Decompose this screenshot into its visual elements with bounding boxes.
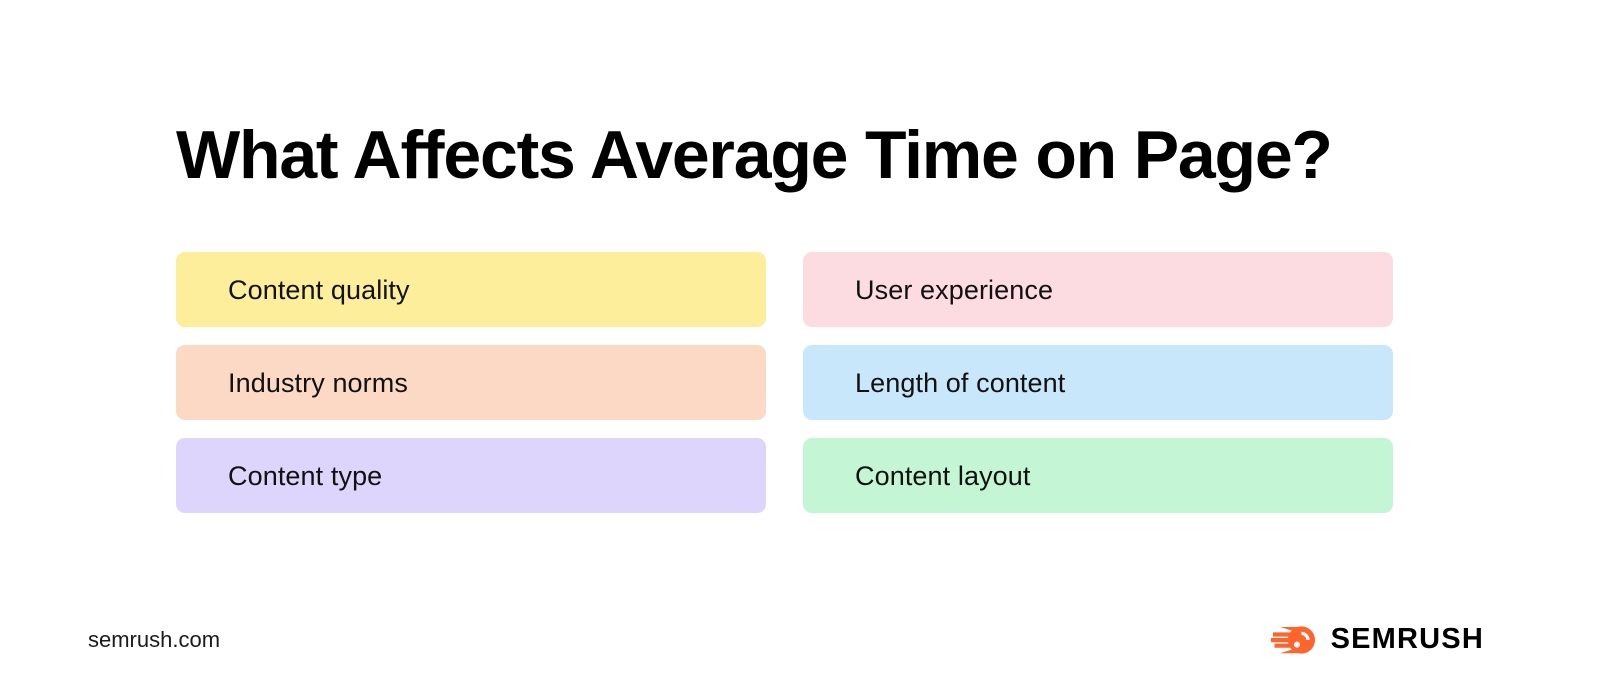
semrush-logo: SEMRUSH xyxy=(1271,620,1484,658)
factor-card-content-layout: Content layout xyxy=(803,438,1393,513)
factor-label: Length of content xyxy=(855,367,1065,399)
factor-label: Industry norms xyxy=(228,367,408,399)
semrush-comet-icon xyxy=(1271,622,1317,656)
footer-website-url: semrush.com xyxy=(88,626,220,654)
page-title: What Affects Average Time on Page? xyxy=(176,112,1416,198)
semrush-wordmark: SEMRUSH xyxy=(1331,622,1484,656)
factor-label: Content quality xyxy=(228,274,410,306)
factor-label: Content type xyxy=(228,460,382,492)
factor-card-user-experience: User experience xyxy=(803,252,1393,327)
factor-card-content-type: Content type xyxy=(176,438,766,513)
factor-label: Content layout xyxy=(855,460,1031,492)
factor-label: User experience xyxy=(855,274,1053,306)
infographic-canvas: What Affects Average Time on Page? Conte… xyxy=(0,0,1600,698)
factor-card-content-quality: Content quality xyxy=(176,252,766,327)
factors-grid: Content quality User experience Industry… xyxy=(176,252,1393,513)
factor-card-industry-norms: Industry norms xyxy=(176,345,766,420)
factor-card-length-of-content: Length of content xyxy=(803,345,1393,420)
